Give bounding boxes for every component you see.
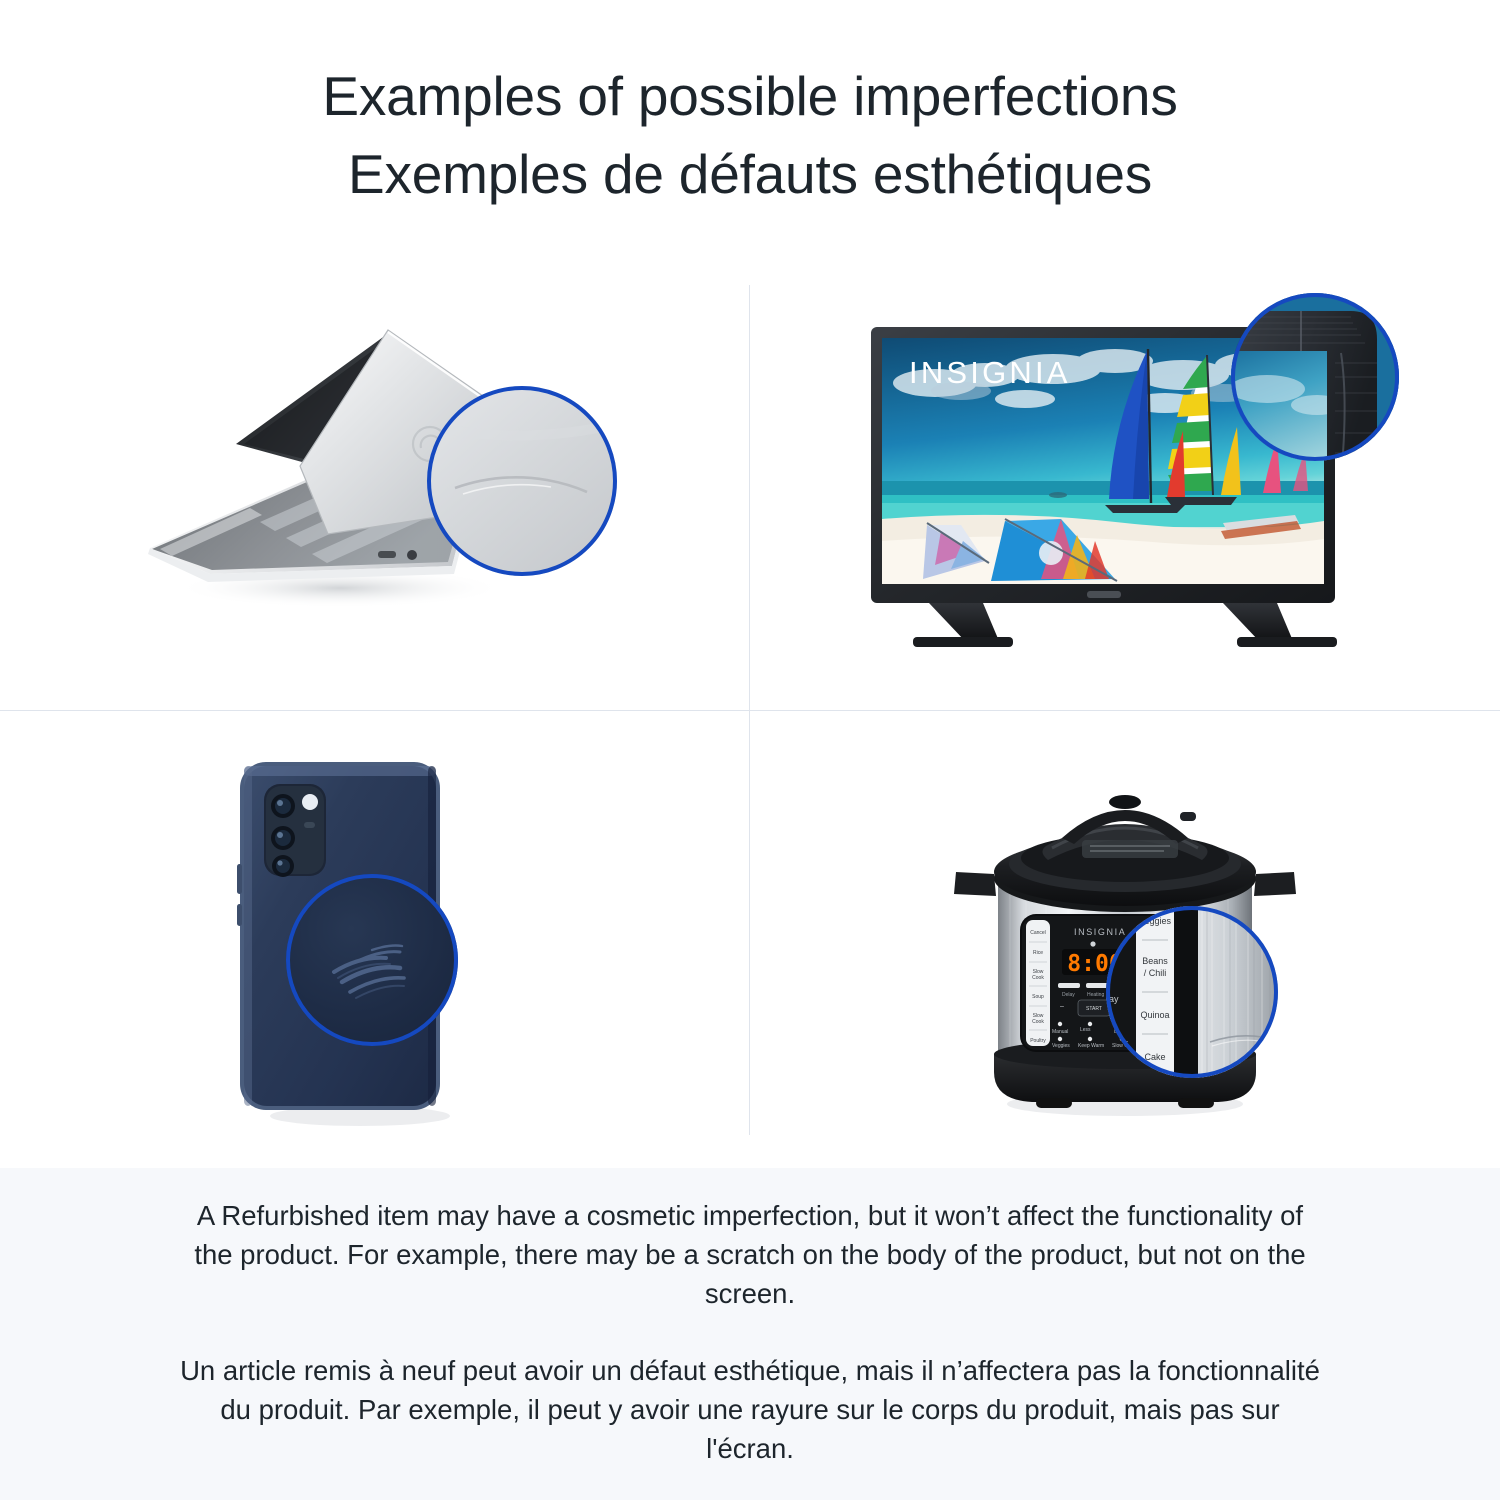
examples-grid: Magnified scratch on laptop lid xyxy=(0,252,1500,1168)
footer-disclaimer: A Refurbished item may have a cosmetic i… xyxy=(0,1168,1500,1500)
cooker-defect-zoom: Veggies Beans/ Chili Quinoa Cake elay xyxy=(1106,906,1278,1078)
svg-text:Cook: Cook xyxy=(1032,1019,1044,1025)
grid-cell-cooker: INSIGNIA 8:00 Delay Heating Warm xyxy=(750,710,1500,1168)
page-title-fr: Exemples de défauts esthétiques xyxy=(348,135,1152,213)
svg-text:–: – xyxy=(1060,1003,1064,1010)
svg-text:/ Chili: / Chili xyxy=(1144,968,1167,978)
disclaimer-fr: Un article remis à neuf peut avoir un dé… xyxy=(180,1351,1320,1468)
svg-text:Cancel: Cancel xyxy=(1030,930,1046,936)
disclaimer-en: A Refurbished item may have a cosmetic i… xyxy=(180,1196,1320,1313)
cooker-brand-logo: INSIGNIA xyxy=(1074,927,1126,937)
svg-text:Cake: Cake xyxy=(1144,1052,1165,1062)
svg-text:Keep Warm: Keep Warm xyxy=(1078,1043,1104,1049)
svg-text:Rice: Rice xyxy=(1033,950,1043,956)
svg-text:Manual: Manual xyxy=(1052,1029,1068,1035)
svg-text:Poultry: Poultry xyxy=(1030,1038,1046,1044)
svg-text:Quinoa: Quinoa xyxy=(1140,1010,1169,1020)
svg-text:Delay: Delay xyxy=(1062,992,1075,998)
tv-brand-logo: INSIGNIA xyxy=(909,355,1071,390)
tv-callout-label: Magnified scuff on TV bezel corner xyxy=(1385,291,1386,292)
phone-illustration: Magnified scratches on phone back xyxy=(210,744,540,1134)
cooker-callout-label: Magnified scratch on cooker body xyxy=(1300,754,1301,755)
grid-cell-tv: INSIGNIA xyxy=(750,252,1500,710)
svg-text:Less: Less xyxy=(1080,1027,1091,1033)
imperfections-infographic: Examples of possible imperfections Exemp… xyxy=(0,0,1500,1500)
laptop-illustration: Magnified scratch on laptop lid xyxy=(140,316,610,646)
svg-text:Heating: Heating xyxy=(1087,992,1104,998)
page-title-en: Examples of possible imperfections xyxy=(322,57,1177,135)
phone-scratch-detail xyxy=(286,874,458,1046)
pressure-cooker-illustration: INSIGNIA 8:00 Delay Heating Warm xyxy=(950,754,1300,1124)
svg-text:Beans: Beans xyxy=(1142,956,1168,966)
svg-text:START: START xyxy=(1086,1006,1102,1012)
grid-cell-phone: Magnified scratches on phone back xyxy=(0,710,750,1168)
tv-defect-zoom xyxy=(1231,293,1399,461)
svg-text:Veggies: Veggies xyxy=(1052,1043,1070,1049)
laptop-defect-zoom xyxy=(427,386,617,576)
grid-cell-laptop: Magnified scratch on laptop lid xyxy=(0,252,750,710)
tv-illustration: INSIGNIA xyxy=(865,291,1385,671)
cooker-scratch-detail: Veggies Beans/ Chili Quinoa Cake elay xyxy=(1106,906,1278,1078)
svg-text:Cook: Cook xyxy=(1032,975,1044,981)
phone-callout-label: Magnified scratches on phone back xyxy=(540,744,541,745)
laptop-scratch-detail xyxy=(427,386,617,576)
svg-text:Soup: Soup xyxy=(1032,994,1044,1000)
svg-text:elay: elay xyxy=(1106,994,1119,1004)
tv-bezel-scuff-detail xyxy=(1231,293,1399,461)
page-header: Examples of possible imperfections Exemp… xyxy=(0,0,1500,252)
phone-defect-zoom xyxy=(286,874,458,1046)
